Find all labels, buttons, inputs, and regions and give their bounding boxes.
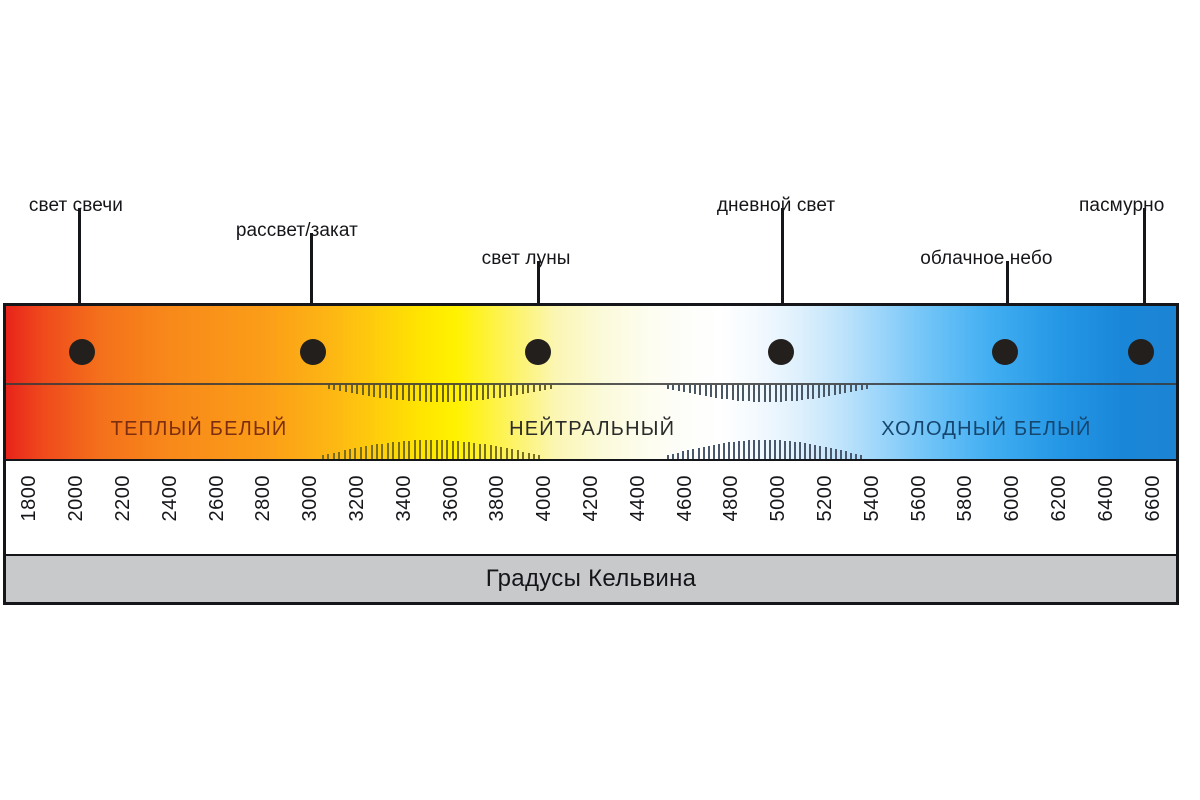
ruler-tick: [774, 440, 776, 459]
kelvin-tick-label: 4400: [628, 475, 648, 522]
kelvin-tick-column: 5600: [907, 467, 931, 553]
ruler-tick: [818, 385, 820, 398]
ruler-tick: [479, 444, 481, 459]
ruler-tick: [493, 385, 495, 398]
ruler-tick: [425, 385, 427, 402]
ruler-tick: [743, 441, 745, 459]
ruler-tick: [721, 385, 723, 399]
ruler-tick: [368, 385, 370, 396]
ruler-tick: [825, 447, 827, 459]
marker-dot-3: [768, 339, 794, 365]
kelvin-tick-label: 5200: [815, 475, 835, 522]
ruler-tick: [354, 448, 356, 459]
kelvin-tick-label: 5800: [955, 475, 975, 522]
kelvin-tick-label: 3400: [394, 475, 414, 522]
ruler-tick: [522, 452, 524, 460]
kelvin-tick-label: 4000: [534, 475, 554, 522]
ruler-tick: [694, 385, 696, 394]
ruler-tick: [732, 385, 734, 400]
ruler-tick: [728, 442, 730, 459]
kelvin-tick-label: 3200: [347, 475, 367, 522]
kelvin-tick-column: 5000: [766, 467, 790, 553]
callout-layer: свет свечирассвет/закатсвет луныдневной …: [0, 0, 1200, 320]
kelvin-tick-column: 5200: [813, 467, 837, 553]
ruler-tick: [550, 385, 552, 389]
ruler-tick: [392, 442, 394, 459]
kelvin-tick-column: 4600: [673, 467, 697, 553]
ruler-tick: [338, 452, 340, 460]
ruler-tick: [533, 385, 535, 392]
ruler-tick: [476, 385, 478, 400]
ruler-tick: [784, 441, 786, 459]
ruler-tick: [804, 443, 806, 459]
ruler-tick: [356, 385, 358, 394]
caption-band-label: Градусы Кельвина: [486, 565, 697, 593]
ruler-tick: [738, 441, 740, 459]
ruler-tick: [835, 449, 837, 459]
ruler-tick: [414, 440, 416, 459]
ruler-tick: [484, 444, 486, 459]
ruler-tick: [828, 385, 830, 396]
ruler-tick: [733, 442, 735, 459]
ruler-tick: [453, 385, 455, 402]
ruler-tick: [425, 440, 427, 459]
ruler-tick: [689, 385, 691, 393]
ruler-tick: [682, 451, 684, 459]
kelvin-tick-column: 3200: [345, 467, 369, 553]
kelvin-tick-label: 5000: [768, 475, 788, 522]
ruler-tick: [667, 385, 669, 389]
ruler-tick: [385, 385, 387, 398]
ruler-tick: [678, 385, 680, 391]
kelvin-tick-column: 2200: [111, 467, 135, 553]
band-caption-2: ХОЛОДНЫЙ БЕЛЫЙ: [881, 418, 1091, 441]
ruler-tick: [381, 444, 383, 459]
ruler-tick: [446, 440, 448, 459]
ruler-tick: [791, 385, 793, 401]
ruler-tick: [807, 385, 809, 399]
ruler-tick: [402, 385, 404, 400]
kelvin-tick-column: 1800: [17, 467, 41, 553]
ruler-tick: [510, 385, 512, 396]
ruler-tick: [834, 385, 836, 395]
callout-label-0: свет свечи: [29, 196, 123, 215]
kelvin-tick-column: 3400: [392, 467, 416, 553]
ruler-tick: [769, 385, 771, 402]
kelvin-tick-column: 4800: [719, 467, 743, 553]
ruler-tick: [758, 385, 760, 402]
kelvin-tick-column: 4400: [626, 467, 650, 553]
ruler-tick: [473, 443, 475, 459]
ruler-tick: [516, 385, 518, 395]
ruler-tick: [718, 444, 720, 459]
ruler-tick: [511, 449, 513, 459]
ruler-tick: [812, 385, 814, 399]
kelvin-tick-column: 5400: [860, 467, 884, 553]
kelvin-tick-column: 6400: [1094, 467, 1118, 553]
ruler-tick: [522, 385, 524, 394]
ruler-tick: [794, 442, 796, 459]
ruler-tick: [441, 440, 443, 459]
ruler-tick: [753, 385, 755, 402]
ruler-tick: [459, 385, 461, 401]
kelvin-tick-column: 6000: [1000, 467, 1024, 553]
kelvin-tick-column: 6600: [1141, 467, 1165, 553]
ruler-tick: [527, 385, 529, 393]
ruler-tick: [345, 385, 347, 392]
kelvin-tick-column: 5800: [953, 467, 977, 553]
ruler-tick: [779, 440, 781, 459]
ruler-tick: [866, 385, 868, 389]
kelvin-tick-column: 4000: [532, 467, 556, 553]
ruler-tick: [687, 450, 689, 459]
ruler-tick: [465, 385, 467, 401]
marker-dot-5: [1128, 339, 1154, 365]
ruler-tick: [845, 451, 847, 459]
kelvin-tick-label: 2200: [113, 475, 133, 522]
ruler-tick: [365, 446, 367, 459]
ruler-tick: [436, 385, 438, 402]
ruler-tick: [544, 385, 546, 390]
band-divider-line: [6, 383, 1176, 385]
ruler-tick: [351, 385, 353, 393]
ruler-tick: [413, 385, 415, 401]
ruler-tick: [785, 385, 787, 401]
color-temperature-chart: ТЕПЛЫЙ БЕЛЫЙНЕЙТРАЛЬНЫЙХОЛОДНЫЙ БЕЛЫЙ 18…: [3, 303, 1179, 605]
ruler-tick: [850, 385, 852, 392]
ruler-tick: [814, 445, 816, 459]
ruler-tick: [796, 385, 798, 401]
kelvin-tick-label: 3800: [487, 475, 507, 522]
ruler-tick: [823, 385, 825, 397]
ruler-tick: [408, 441, 410, 459]
ruler-tick: [373, 385, 375, 397]
kelvin-tick-label: 4800: [721, 475, 741, 522]
ruler-tick: [463, 442, 465, 459]
ruler-tick: [713, 445, 715, 459]
ruler-tick: [396, 385, 398, 400]
ruler-tick: [495, 446, 497, 459]
ruler-tick: [737, 385, 739, 401]
ruler-tick: [715, 385, 717, 398]
ruler-tick: [775, 385, 777, 402]
ruler-tick: [419, 385, 421, 401]
ruler-tick: [506, 448, 508, 459]
kelvin-tick-label: 2800: [253, 475, 273, 522]
marker-dot-1: [300, 339, 326, 365]
ruler-tick: [855, 385, 857, 391]
ruler-tick: [504, 385, 506, 397]
ruler-tick: [452, 441, 454, 459]
ruler-tick: [430, 440, 432, 459]
kelvin-tick-column: 2400: [158, 467, 182, 553]
ruler-tick: [844, 385, 846, 393]
gradient-spectrum-band: ТЕПЛЫЙ БЕЛЫЙНЕЙТРАЛЬНЫЙХОЛОДНЫЙ БЕЛЫЙ: [6, 306, 1176, 459]
kelvin-tick-label: 6600: [1143, 475, 1163, 522]
kelvin-tick-label: 6200: [1049, 475, 1069, 522]
ruler-tick: [708, 446, 710, 459]
ruler-tick: [819, 446, 821, 459]
ruler-tick: [390, 385, 392, 399]
ruler-tick: [789, 441, 791, 459]
kelvin-tick-column: 2800: [251, 467, 275, 553]
band-caption-1: НЕЙТРАЛЬНЫЙ: [509, 418, 675, 441]
ruler-tick: [839, 385, 841, 394]
ruler-tick: [710, 385, 712, 397]
ruler-tick: [468, 442, 470, 459]
ruler-tick: [764, 385, 766, 402]
ruler-tick: [457, 441, 459, 459]
ruler-tick: [487, 385, 489, 399]
ruler-tick: [801, 385, 803, 400]
kelvin-tick-label: 2400: [160, 475, 180, 522]
ruler-tick: [703, 447, 705, 459]
ruler-tick: [748, 440, 750, 459]
kelvin-tick-label: 6400: [1096, 475, 1116, 522]
kelvin-tick-column: 2000: [64, 467, 88, 553]
kelvin-tick-label: 3600: [441, 475, 461, 522]
kelvin-tick-column: 3800: [485, 467, 509, 553]
ruler-tick: [490, 445, 492, 459]
ruler-tick: [328, 385, 330, 389]
ruler-tick: [371, 445, 373, 459]
ruler-tick: [430, 385, 432, 402]
kelvin-tick-column: 6200: [1047, 467, 1071, 553]
ruler-tick: [692, 449, 694, 459]
marker-dot-4: [992, 339, 1018, 365]
ruler-ticks-upper: [6, 385, 1176, 409]
ruler-tick: [376, 444, 378, 459]
ruler-tick: [500, 447, 502, 459]
ruler-tick: [809, 444, 811, 459]
ruler-tick: [362, 385, 364, 395]
ruler-tick: [339, 385, 341, 391]
kelvin-tick-label: 1800: [19, 475, 39, 522]
ruler-tick: [419, 440, 421, 459]
ruler-tick: [840, 450, 842, 459]
callout-label-4: облачное небо: [920, 249, 1052, 268]
marker-dot-0: [69, 339, 95, 365]
kelvin-tick-label: 3000: [300, 475, 320, 522]
ruler-tick: [698, 448, 700, 459]
callout-label-5: пасмурно: [1079, 196, 1164, 215]
kelvin-tick-label: 4600: [675, 475, 695, 522]
ruler-tick: [517, 450, 519, 459]
ruler-tick: [748, 385, 750, 401]
ruler-tick: [403, 441, 405, 459]
ruler-tick: [753, 440, 755, 459]
ruler-tick: [672, 385, 674, 390]
kelvin-tick-label: 5600: [909, 475, 929, 522]
ruler-tick: [758, 440, 760, 459]
ruler-tick: [799, 442, 801, 459]
ruler-tick: [699, 385, 701, 395]
band-caption-0: ТЕПЛЫЙ БЕЛЫЙ: [111, 418, 288, 441]
ruler-tick: [398, 442, 400, 459]
kelvin-tick-column: 3000: [298, 467, 322, 553]
marker-dot-2: [525, 339, 551, 365]
caption-band: Градусы Кельвина: [6, 554, 1176, 602]
callout-label-2: свет луны: [482, 249, 571, 268]
ruler-tick: [742, 385, 744, 401]
ruler-tick: [705, 385, 707, 396]
ruler-tick: [470, 385, 472, 401]
kelvin-tick-label: 2600: [207, 475, 227, 522]
kelvin-tick-column: 2600: [205, 467, 229, 553]
ruler-tick: [830, 448, 832, 459]
ruler-tick: [769, 440, 771, 459]
kelvin-tick-label: 2000: [66, 475, 86, 522]
ruler-tick: [482, 385, 484, 400]
ruler-tick: [442, 385, 444, 402]
kelvin-tick-label: 4200: [581, 475, 601, 522]
kelvin-tick-label: 5400: [862, 475, 882, 522]
ruler-tick: [436, 440, 438, 459]
ruler-tick: [861, 385, 863, 390]
ruler-tick: [387, 443, 389, 459]
ruler-tick: [723, 443, 725, 459]
ruler-tick: [408, 385, 410, 401]
ruler-tick: [349, 449, 351, 459]
kelvin-scale: 1800200022002400260028003000320034003600…: [6, 459, 1176, 559]
ruler-tick: [360, 447, 362, 459]
ruler-tick: [379, 385, 381, 398]
ruler-tick: [499, 385, 501, 398]
ruler-tick: [539, 385, 541, 391]
ruler-tick: [726, 385, 728, 399]
kelvin-tick-column: 3600: [439, 467, 463, 553]
kelvin-tick-label: 6000: [1002, 475, 1022, 522]
ruler-tick: [344, 450, 346, 459]
callout-label-3: дневной свет: [717, 196, 835, 215]
kelvin-tick-column: 4200: [579, 467, 603, 553]
ruler-tick: [764, 440, 766, 459]
ruler-tick: [683, 385, 685, 392]
ruler-tick: [780, 385, 782, 402]
callout-label-1: рассвет/закат: [236, 221, 358, 240]
ruler-tick: [447, 385, 449, 402]
ruler-tick: [333, 385, 335, 390]
